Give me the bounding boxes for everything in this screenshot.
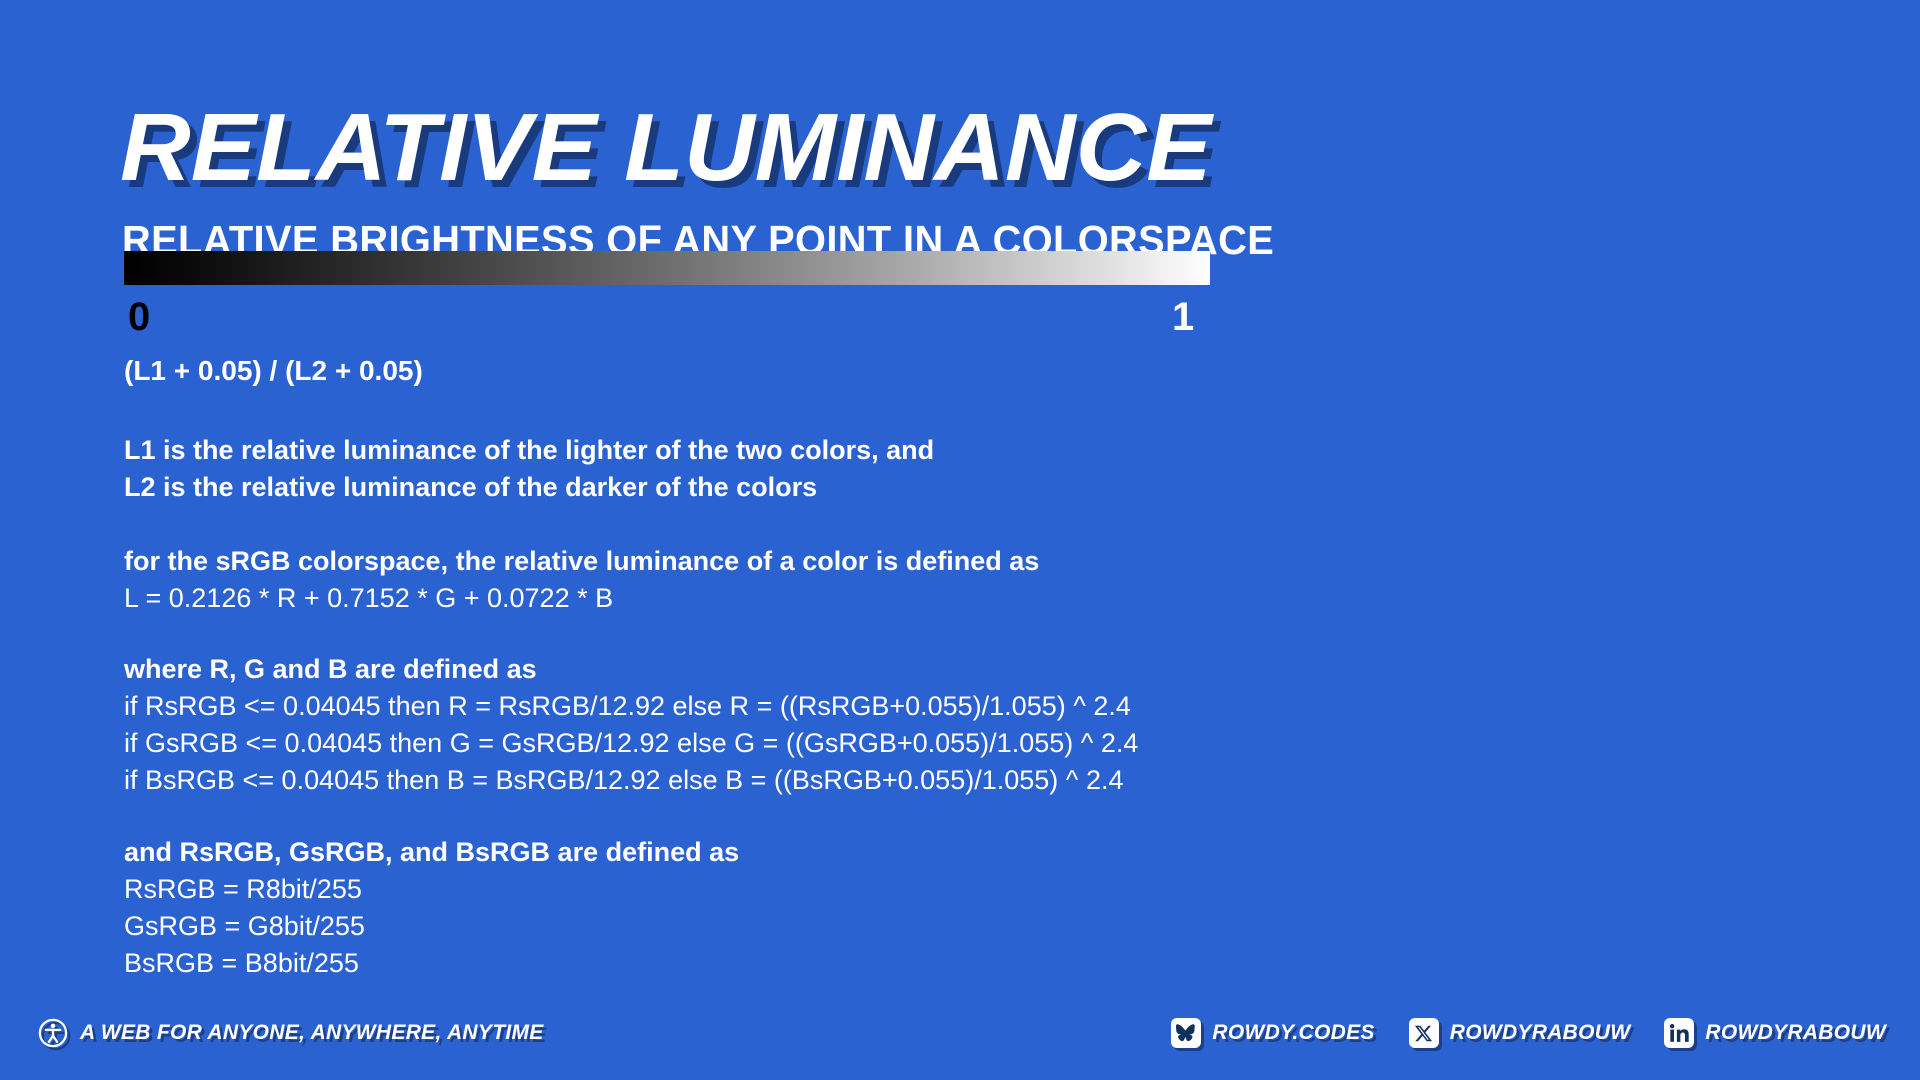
social-link-bluesky[interactable]: ROWDY.CODES (1171, 1018, 1374, 1048)
footer-social-links: ROWDY.CODES ROWDYRABOUW (1171, 1018, 1886, 1048)
srgb-luminance-block: for the sRGB colorspace, the relative lu… (124, 543, 1039, 617)
l1-definition-line: L1 is the relative luminance of the ligh… (124, 432, 934, 469)
eightbit-blue-formula: BsRGB = B8bit/255 (124, 945, 739, 982)
social-label-linkedin: ROWDYRABOUW (1705, 1021, 1886, 1045)
rgb-green-formula: if GsRGB <= 0.04045 then G = GsRGB/12.92… (124, 725, 1138, 762)
social-label-x: ROWDYRABOUW (1450, 1021, 1631, 1045)
scale-min-label: 0 (128, 297, 150, 337)
srgb-luminance-formula: L = 0.2126 * R + 0.7152 * G + 0.0722 * B (124, 580, 1039, 617)
social-link-linkedin[interactable]: ROWDYRABOUW (1664, 1018, 1886, 1048)
bluesky-butterfly-icon (1171, 1018, 1201, 1048)
rgb-definition-block: where R, G and B are defined as if RsRGB… (124, 651, 1138, 799)
l1-l2-definition-block: L1 is the relative luminance of the ligh… (124, 432, 934, 506)
srgb-heading: for the sRGB colorspace, the relative lu… (124, 543, 1039, 580)
contrast-ratio-formula: (L1 + 0.05) / (L2 + 0.05) (124, 355, 423, 387)
footer-tagline-group: A WEB FOR ANYONE, ANYWHERE, ANYTIME (38, 1018, 544, 1048)
luminance-gradient-bar (124, 251, 1210, 285)
eightbit-green-formula: GsRGB = G8bit/255 (124, 908, 739, 945)
rgb-blue-formula: if BsRGB <= 0.04045 then B = BsRGB/12.92… (124, 762, 1138, 799)
footer: A WEB FOR ANYONE, ANYWHERE, ANYTIME ROWD… (0, 996, 1920, 1080)
accessibility-icon (38, 1018, 68, 1048)
slide: RELATIVE LUMINANCE RELATIVE BRIGHTNESS O… (0, 0, 1920, 1080)
rgb-heading: where R, G and B are defined as (124, 651, 1138, 688)
scale-max-label: 1 (1172, 297, 1194, 337)
eightbit-definition-block: and RsRGB, GsRGB, and BsRGB are defined … (124, 834, 739, 982)
page-title: RELATIVE LUMINANCE (120, 100, 1212, 196)
social-link-x[interactable]: ROWDYRABOUW (1409, 1018, 1631, 1048)
eightbit-heading: and RsRGB, GsRGB, and BsRGB are defined … (124, 834, 739, 871)
x-twitter-icon (1409, 1018, 1439, 1048)
footer-tagline-text: A WEB FOR ANYONE, ANYWHERE, ANYTIME (80, 1021, 544, 1045)
linkedin-icon (1664, 1018, 1694, 1048)
social-label-bluesky: ROWDY.CODES (1212, 1021, 1374, 1045)
rgb-red-formula: if RsRGB <= 0.04045 then R = RsRGB/12.92… (124, 688, 1138, 725)
l2-definition-line: L2 is the relative luminance of the dark… (124, 469, 934, 506)
eightbit-red-formula: RsRGB = R8bit/255 (124, 871, 739, 908)
